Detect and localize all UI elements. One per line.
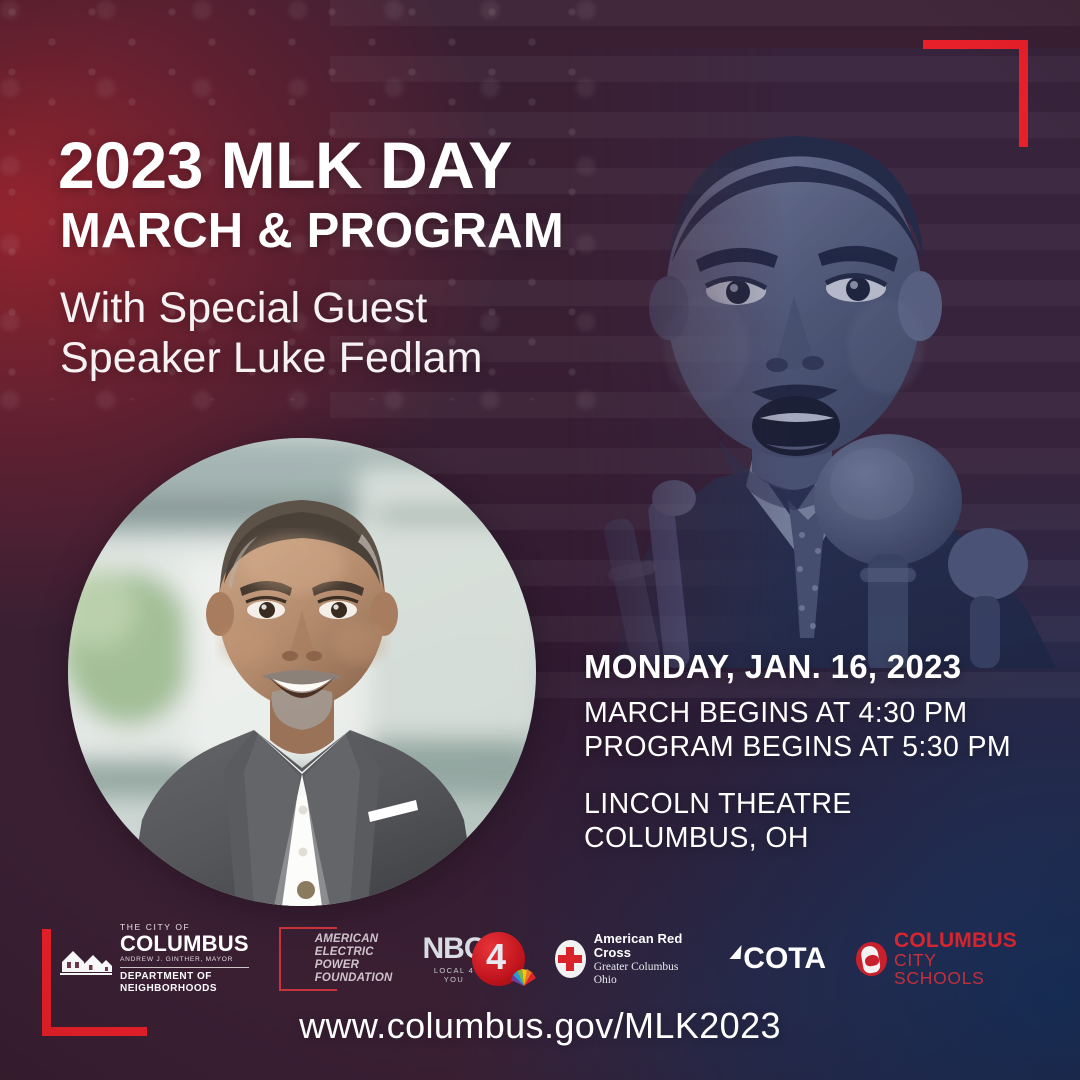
ccs-line-2: CITY SCHOOLS — [894, 952, 1020, 988]
nbc-number: 4 — [486, 939, 506, 975]
event-details: MONDAY, JAN. 16, 2023 MARCH BEGINS AT 4:… — [584, 648, 1044, 856]
logo-aep-foundation: AMERICAN ELECTRIC POWER FOUNDATION — [279, 927, 393, 991]
cota-name: COTA — [743, 942, 826, 976]
red-cross-line-2: Greater Columbus Ohio — [594, 961, 701, 987]
page-subtitle-bold: MARCH & PROGRAM — [60, 205, 658, 258]
columbus-logo-department-line-1: DEPARTMENT OF — [120, 971, 249, 983]
corner-bracket-icon-top-right — [923, 40, 1028, 147]
event-venue: LINCOLN THEATRE COLUMBUS, OH — [584, 787, 1044, 856]
aep-line-4: FOUNDATION — [315, 972, 393, 985]
logo-american-red-cross: American Red Cross Greater Columbus Ohio — [555, 932, 701, 987]
columbus-logo-department-line-2: NEIGHBORHOODS — [120, 983, 249, 995]
cota-swoosh-icon — [730, 945, 742, 959]
skyline-icon — [60, 942, 112, 976]
mlk-day-event-poster: 2023 MLK DAY MARCH & PROGRAM With Specia… — [0, 0, 1080, 1080]
ccs-line-1: COLUMBUS — [894, 930, 1020, 951]
march-start-time: MARCH BEGINS AT 4:30 PM — [584, 696, 1044, 730]
event-url[interactable]: www.columbus.gov/MLK2023 — [0, 1005, 1080, 1047]
red-cross-icon — [555, 940, 586, 978]
sponsor-logo-strip: THE CITY OF COLUMBUS ANDREW J. GINTHER, … — [0, 920, 1080, 998]
headline-block: 2023 MLK DAY MARCH & PROGRAM With Specia… — [58, 132, 658, 384]
logo-nbc4: NBC LOCAL 4 YOU 4 — [423, 932, 525, 986]
columbus-logo-name: COLUMBUS — [120, 933, 249, 955]
columbus-logo-mayor: ANDREW J. GINTHER, MAYOR — [120, 957, 249, 964]
logo-columbus-city-schools: COLUMBUS CITY SCHOOLS — [856, 930, 1020, 988]
speaker-subtitle-line-2: Speaker Luke Fedlam — [60, 334, 658, 384]
peacock-icon — [511, 966, 537, 990]
aep-line-2: ELECTRIC — [315, 946, 393, 959]
logo-cota: COTA — [730, 942, 826, 976]
speaker-subtitle: With Special Guest Speaker Luke Fedlam — [60, 284, 658, 384]
event-times: MARCH BEGINS AT 4:30 PM PROGRAM BEGINS A… — [584, 696, 1044, 765]
logo-city-of-columbus: THE CITY OF COLUMBUS ANDREW J. GINTHER, … — [60, 923, 249, 994]
columbus-logo-department: DEPARTMENT OF NEIGHBORHOODS — [120, 971, 249, 994]
columbus-logo-divider — [120, 967, 249, 968]
event-date: MONDAY, JAN. 16, 2023 — [584, 648, 1044, 686]
venue-name: LINCOLN THEATRE — [584, 787, 1044, 821]
aep-line-1: AMERICAN — [315, 933, 393, 946]
speaker-photo — [68, 438, 536, 906]
program-start-time: PROGRAM BEGINS AT 5:30 PM — [584, 730, 1044, 764]
red-cross-line-1: American Red Cross — [594, 932, 701, 961]
nbc-number-badge: 4 — [472, 932, 525, 986]
aep-line-3: POWER — [315, 959, 393, 972]
venue-city: COLUMBUS, OH — [584, 821, 1044, 855]
page-title: 2023 MLK DAY — [58, 132, 658, 199]
ccs-torch-icon — [856, 942, 887, 976]
speaker-subtitle-line-1: With Special Guest — [60, 284, 658, 334]
